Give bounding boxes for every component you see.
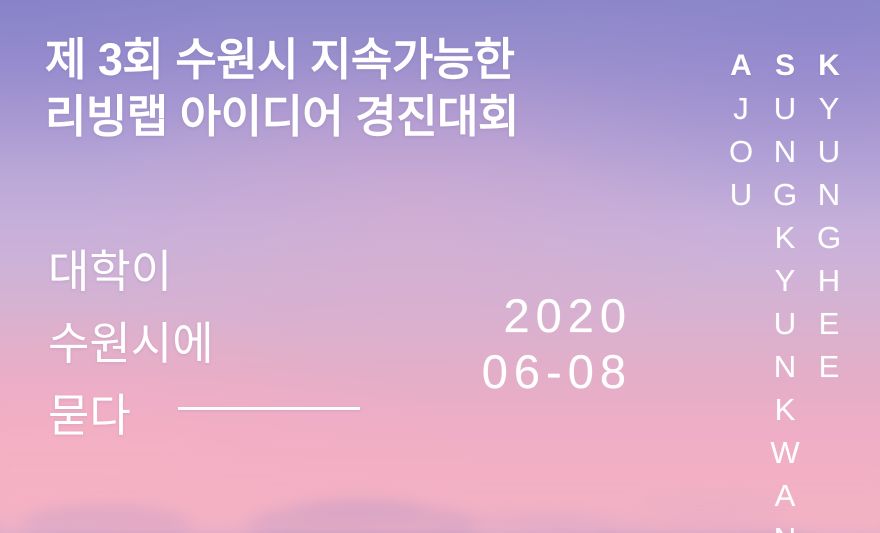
poster-banner: 제 3회 수원시 지속가능한 리빙랩 아이디어 경진대회 대학이 수원시에 묻다… — [0, 0, 880, 533]
acrostic-letter: G — [817, 216, 841, 259]
acrostic-letter: O — [729, 130, 753, 173]
acrostic-letter: E — [819, 302, 840, 345]
acrostic-letter: K — [775, 216, 796, 259]
acrostic-head-a: A — [730, 44, 752, 87]
acrostic-letter: U — [730, 173, 752, 216]
acrostic-head-k: K — [818, 44, 840, 87]
acrostic-head-s: S — [775, 44, 795, 87]
acrostic-letter: N — [774, 517, 796, 533]
acrostic-letter: N — [774, 345, 796, 388]
acrostic-letter: H — [818, 259, 840, 302]
acrostic-letter: N — [818, 173, 840, 216]
title-line-1: 제 3회 수원시 지속가능한 — [45, 31, 519, 88]
acrostic-letter: Y — [819, 87, 840, 130]
poster-content: 제 3회 수원시 지속가능한 리빙랩 아이디어 경진대회 대학이 수원시에 묻다… — [0, 0, 880, 533]
event-title: 제 3회 수원시 지속가능한 리빙랩 아이디어 경진대회 — [45, 31, 519, 145]
acrostic-letter: K — [775, 388, 796, 431]
acrostic-column-sungkyunkwan: S U N G K Y U N K W A N — [762, 44, 808, 533]
acrostic-letter: A — [775, 474, 796, 517]
acrostic-letter: J — [733, 87, 749, 130]
event-subtitle: 대학이 수원시에 묻다 — [48, 236, 214, 452]
subtitle-underline-rule — [178, 407, 360, 410]
subtitle-line-3: 묻다 — [48, 380, 214, 452]
acrostic-letter: E — [819, 345, 840, 388]
acrostic-letter: U — [818, 130, 840, 173]
acrostic-letter: Y — [775, 259, 796, 302]
acrostic-letter: N — [774, 130, 796, 173]
acrostic-letter: U — [774, 302, 796, 345]
event-date: 2020 06-08 — [400, 288, 632, 400]
acrostic-column-kyunghee: K Y U N G H E E — [806, 44, 852, 533]
title-line-2: 리빙랩 아이디어 경진대회 — [45, 88, 519, 145]
subtitle-line-1: 대학이 — [48, 236, 214, 308]
acrostic-letter: G — [773, 173, 797, 216]
acrostic-letter: U — [774, 87, 796, 130]
date-day-span: 06-08 — [400, 344, 632, 400]
university-acrostic: A J O U S U N G K Y U N K W A N K — [718, 44, 852, 533]
subtitle-line-2: 수원시에 — [48, 308, 214, 380]
acrostic-column-ajou: A J O U — [718, 44, 764, 533]
date-year: 2020 — [400, 288, 632, 344]
acrostic-letter: W — [770, 431, 799, 474]
